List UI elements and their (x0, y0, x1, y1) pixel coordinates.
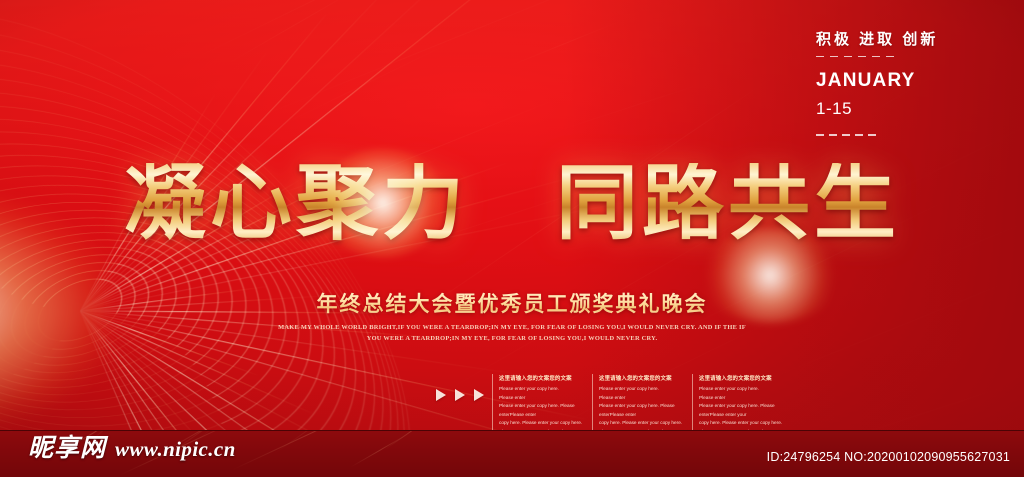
arrow-markers (436, 389, 484, 401)
play-triangle-icon (436, 389, 446, 401)
copy-column-line: Please enter (499, 394, 584, 403)
footer-streak (231, 431, 386, 471)
copy-column-heading: 这里请输入您的文案您的文案 (599, 374, 684, 382)
image-id-code: ID:24796254 NO:20200102090955627031 (767, 450, 1010, 464)
copy-column-line: copy here. Please enter your copy here. (599, 419, 684, 428)
copy-column-heading: 这里请输入您的文案您的文案 (699, 374, 784, 382)
watermark-url: www.nipic.cn (115, 437, 236, 462)
copy-column-line: Please enter your copy here. Please ente… (499, 402, 584, 419)
poster-canvas: 积极 进取 创新 JANUARY 1-15 凝心聚力 同路共生 年终总结大会暨优… (0, 0, 1024, 477)
main-title-right: 同路共生 (556, 163, 900, 245)
header-dashed-divider-top (816, 56, 900, 57)
copy-column-heading: 这里请输入您的文案您的文案 (499, 374, 584, 382)
header-dashed-divider-bottom (816, 134, 878, 136)
main-title-left: 凝心聚力 (124, 163, 468, 245)
copy-column-line: Please enter your copy here. Please ente… (699, 402, 784, 419)
copy-column-line: Please enter (599, 394, 684, 403)
main-title: 凝心聚力 同路共生 (0, 163, 1024, 245)
footer-streak (385, 431, 439, 450)
copy-column-line: Please enter your copy here. Please ente… (599, 402, 684, 419)
watermark-logo-text: 昵享网 (28, 428, 106, 464)
english-copy: MAKE MY WHOLE WORLD BRIGHT,IF YOU WERE A… (277, 322, 747, 344)
header-kicker: 积极 进取 创新 (816, 28, 966, 49)
subtitle: 年终总结大会暨优秀员工颁奖典礼晚会 (0, 288, 1024, 318)
footer-streak (273, 431, 448, 455)
watermark: 昵享网 www.nipic.cn (28, 428, 236, 464)
play-triangle-icon (455, 389, 465, 401)
copy-column-line: Please enter your copy here. (599, 385, 684, 394)
header-month: JANUARY (816, 70, 966, 92)
copy-column-line: copy here. Please enter your copy here. (499, 419, 584, 428)
footer-streak (350, 432, 411, 468)
copy-column-line: Please enter your copy here. (699, 385, 784, 394)
header-date-range: 1-15 (816, 99, 966, 119)
header-block: 积极 进取 创新 JANUARY 1-15 (816, 28, 966, 136)
copy-column-line: copy here. Please enter your copy here. (699, 419, 784, 428)
copy-column-line: Please enter (699, 394, 784, 403)
play-triangle-icon (474, 389, 484, 401)
footer-streak (308, 431, 468, 437)
copy-column-line: Please enter your copy here. (499, 385, 584, 394)
